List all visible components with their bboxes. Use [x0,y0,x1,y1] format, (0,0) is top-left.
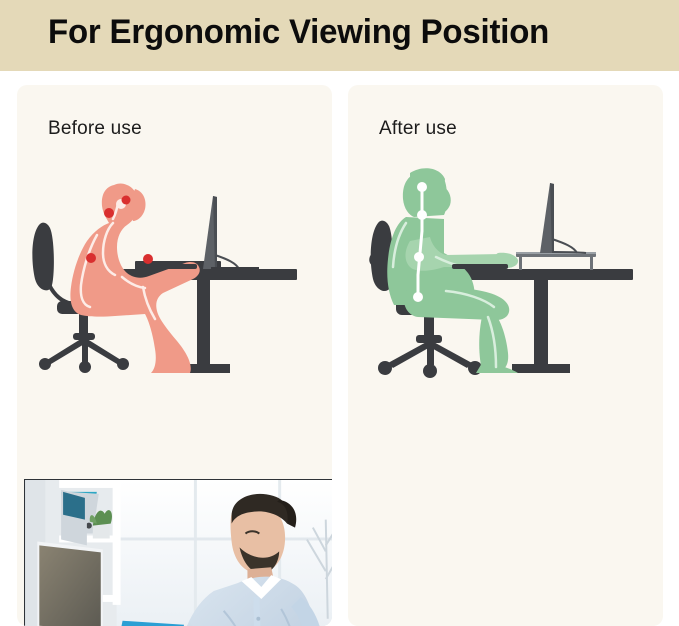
panel-after-use: After use [348,85,663,626]
panel-label-after: After use [379,118,457,140]
upright-posture-illustration [348,157,663,385]
man-with-back-pain-photo [24,479,332,626]
monitor-before [203,196,259,270]
product-feature-graphic: For Ergonomic Viewing Position Before us… [0,0,679,626]
page-title: For Ergonomic Viewing Position [48,13,549,52]
monitor-riser-stand [516,252,596,270]
panel-label-before: Before use [48,118,142,140]
slouching-posture-illustration [17,157,332,385]
panel-before-use: Before use [17,85,332,626]
keyboard-after [452,264,508,269]
keyboard-before [149,264,197,269]
header-band: For Ergonomic Viewing Position [0,0,679,71]
monitor-after [540,183,586,253]
